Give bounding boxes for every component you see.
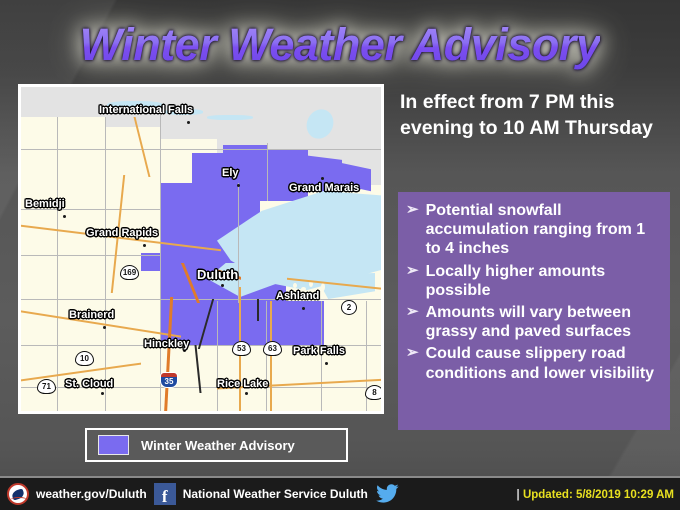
advisory-zone (160, 183, 260, 213)
shield-us-63: 63 (263, 341, 282, 356)
county-line (267, 143, 268, 201)
city-label-st-cloud: St. Cloud (65, 378, 113, 390)
city-label-international-falls: International Falls (99, 104, 193, 116)
bullet-item: ➢ Amounts will vary between grassy and p… (406, 303, 661, 341)
shield-us-10: 10 (75, 351, 94, 366)
bullet-text: Locally higher amounts possible (426, 262, 661, 300)
arrow-bullet-icon: ➢ (406, 262, 419, 300)
title-banner: Winter Weather Advisory (0, 16, 680, 74)
bullet-item: ➢ Locally higher amounts possible (406, 262, 661, 300)
arrow-bullet-icon: ➢ (406, 201, 419, 259)
bullet-text: Amounts will vary between grassy and pav… (426, 303, 661, 341)
city-dot (221, 284, 224, 287)
city-label-ashland: Ashland (276, 290, 319, 302)
facebook-page-name[interactable]: National Weather Service Duluth (183, 487, 368, 501)
city-dot (321, 177, 324, 180)
city-label-hinckley: Hinckley (144, 338, 189, 350)
county-line (57, 117, 58, 414)
city-label-grand-marais: Grand Marais (289, 182, 359, 194)
footer-bar: weather.gov/Duluth f National Weather Se… (0, 476, 680, 510)
city-label-grand-rapids: Grand Rapids (86, 227, 158, 239)
facebook-icon[interactable]: f (154, 483, 176, 505)
twitter-icon[interactable] (375, 484, 399, 504)
effective-time-headline: In effect from 7 PM this evening to 10 A… (400, 90, 668, 142)
city-label-ely: Ely (222, 167, 239, 179)
shield-us-169: 169 (120, 265, 139, 280)
bullet-text: Potential snowfall accumulation ranging … (426, 201, 661, 259)
highway (270, 301, 272, 414)
website-link[interactable]: weather.gov/Duluth (36, 487, 147, 501)
city-label-bemidji: Bemidji (25, 198, 65, 210)
shield-interstate-35: 35 (160, 372, 178, 388)
updated-timestamp: | Updated: 5/8/2019 10:29 AM (516, 487, 680, 501)
shield-us-71: 71 (37, 379, 56, 394)
details-panel: ➢ Potential snowfall accumulation rangin… (398, 192, 670, 430)
county-line (21, 149, 384, 150)
shield-us-8: 8 (365, 385, 384, 400)
island (321, 283, 325, 291)
county-line (217, 301, 218, 414)
city-dot (187, 121, 190, 124)
shield-state-2: 2 (341, 300, 357, 315)
city-dot (101, 392, 104, 395)
county-line (21, 299, 384, 300)
county-line (238, 183, 239, 303)
city-dot (245, 392, 248, 395)
bullet-item: ➢ Potential snowfall accumulation rangin… (406, 201, 661, 259)
bullet-item: ➢ Could cause slippery road conditions a… (406, 344, 661, 382)
noaa-logo-icon (7, 483, 29, 505)
advisory-graphic: Winter Weather Advisory (0, 0, 680, 510)
city-label-brainerd: Brainerd (69, 309, 114, 321)
city-dot (237, 184, 240, 187)
county-line (266, 301, 267, 414)
page-title: Winter Weather Advisory (80, 19, 601, 71)
arrow-bullet-icon: ➢ (406, 344, 419, 382)
legend-swatch-advisory (98, 435, 129, 455)
county-line (21, 255, 161, 256)
map-legend: Winter Weather Advisory (85, 428, 348, 462)
county-line (160, 115, 161, 414)
shield-us-53: 53 (232, 341, 251, 356)
legend-label: Winter Weather Advisory (141, 438, 295, 453)
city-label-duluth: Duluth (197, 267, 238, 282)
advisory-map: International Falls Bemidji Grand Rapids… (18, 84, 384, 414)
city-dot (302, 307, 305, 310)
state-boundary (257, 299, 259, 321)
footer-divider: | (516, 487, 519, 501)
city-label-park-falls: Park Falls (293, 345, 345, 357)
city-dot (325, 362, 328, 365)
city-dot (143, 244, 146, 247)
arrow-bullet-icon: ➢ (406, 303, 419, 341)
city-label-rice-lake: Rice Lake (217, 378, 268, 390)
bullet-text: Could cause slippery road conditions and… (426, 344, 661, 382)
city-dot (103, 326, 106, 329)
border-water (207, 115, 253, 120)
updated-text: Updated: 5/8/2019 10:29 AM (523, 489, 674, 501)
city-dot (63, 215, 66, 218)
island (293, 283, 297, 288)
county-line (321, 301, 322, 414)
